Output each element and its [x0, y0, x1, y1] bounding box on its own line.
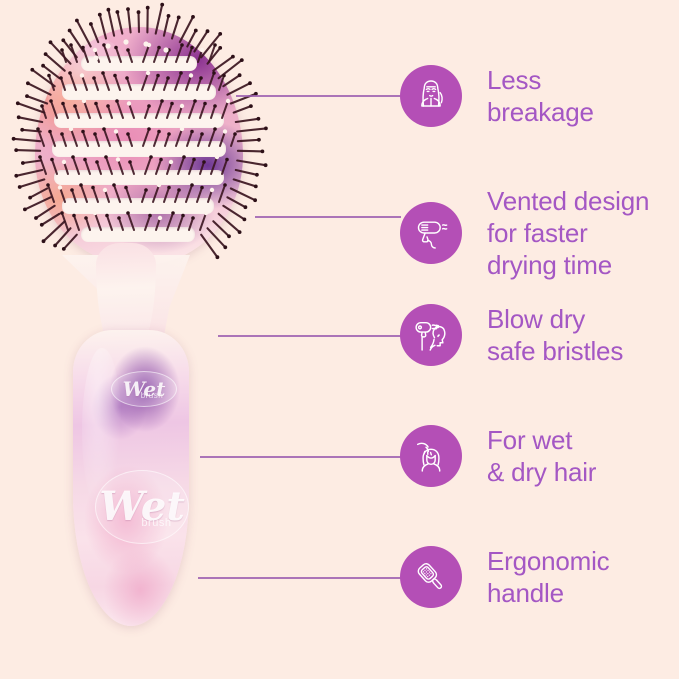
infographic-canvas: Wet brush Wet brush [0, 0, 679, 679]
brand-logo-subword: brush [141, 391, 164, 400]
brush-vent-slot [62, 84, 216, 99]
brand-logo-subword: brush [141, 517, 171, 529]
brush-vent-slot [62, 198, 214, 213]
connector-line-5 [198, 577, 401, 579]
feature-item-blow-dry-safe[interactable]: Blow dry safe bristles [400, 303, 623, 367]
feature-label: For wet & dry hair [487, 424, 596, 488]
blow-dryer-face-icon [400, 304, 462, 366]
girl-long-hair-icon [400, 65, 462, 127]
feature-item-ergonomic-handle[interactable]: Ergonomic handle [400, 545, 609, 609]
brand-logo-neck: Wet brush [111, 371, 177, 407]
brush-vent-slot [52, 141, 227, 156]
brush-vent-slot [81, 56, 197, 71]
paddle-brush-icon [400, 546, 462, 608]
feature-label: Blow dry safe bristles [487, 303, 623, 367]
brush-vent-slot [81, 227, 195, 242]
feature-label: Less breakage [487, 64, 594, 128]
connector-line-3 [218, 335, 401, 337]
connector-line-1 [236, 95, 401, 97]
brush-vent-slot [54, 113, 225, 128]
feature-label: Ergonomic handle [487, 545, 609, 609]
connector-line-4 [200, 456, 401, 458]
brush-head [35, 27, 243, 265]
feature-label: Vented design for faster drying time [487, 185, 649, 281]
brush-vent-slot [54, 170, 225, 185]
feature-item-vented-design[interactable]: Vented design for faster drying time [400, 185, 649, 281]
feature-item-wet-dry-hair[interactable]: For wet & dry hair [400, 424, 596, 488]
brand-logo-handle: Wet brush [95, 470, 189, 544]
hair-dryer-icon [400, 202, 462, 264]
shower-head-woman-icon [400, 425, 462, 487]
feature-item-less-breakage[interactable]: Less breakage [400, 64, 594, 128]
connector-line-2 [255, 216, 401, 218]
